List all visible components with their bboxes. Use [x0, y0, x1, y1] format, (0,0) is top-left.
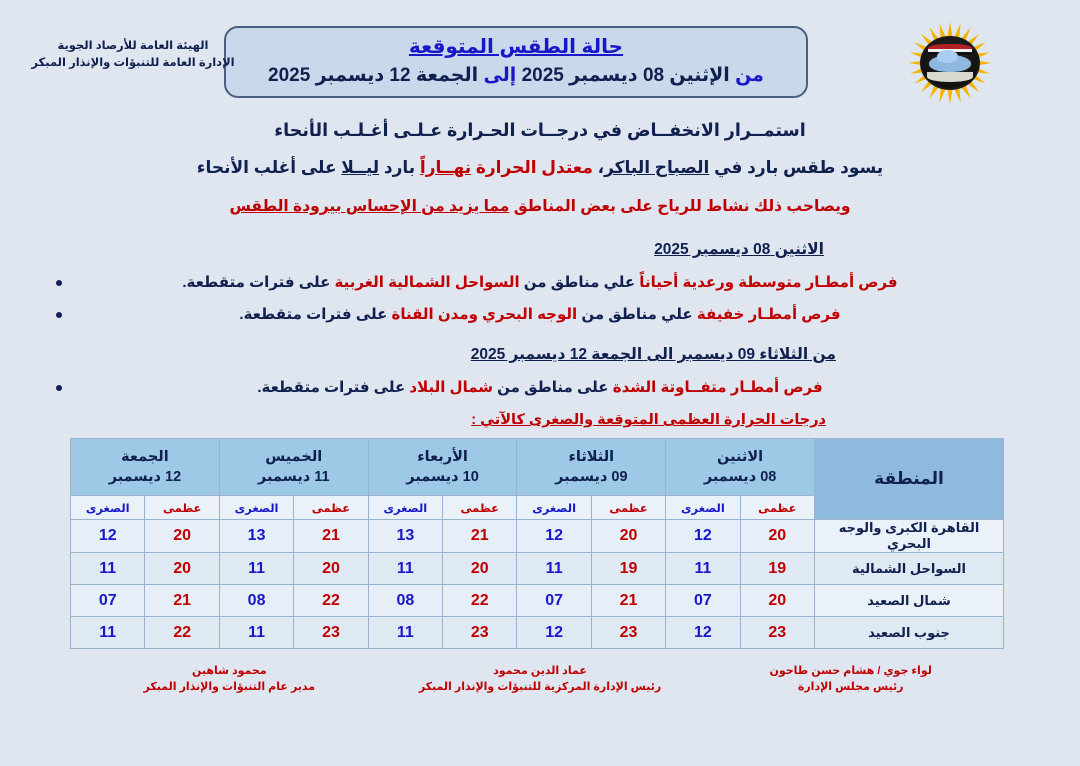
table-row: القاهرة الكبرى والوجه البحري 20 12 20 12…: [71, 520, 1004, 553]
document-footer: لواء جوي / هشام حسن طاحون رئيس مجلس الإد…: [74, 663, 1006, 695]
temperature-table-wrapper: المنطقة الاثنين 08 ديسمبر الثلاثاء 09 دي…: [70, 438, 1004, 649]
signatory-title: رئيس مجلس الإدارة: [695, 679, 1006, 695]
bullet-dot-icon: [56, 385, 62, 391]
subheader-max-3: عظمى: [294, 496, 368, 520]
cell-min: 11: [517, 553, 591, 585]
cell-max: 22: [443, 585, 517, 617]
day-date: 08 ديسمبر: [666, 467, 814, 487]
summary3-part1: ويصاحب ذلك نشاط للرياح على بعض المناطق: [509, 198, 850, 215]
cell-max: 23: [294, 617, 368, 649]
cell-max: 20: [294, 553, 368, 585]
water-band: [927, 72, 973, 82]
subheader-min-3: الصغرى: [219, 496, 293, 520]
bullet-red-region: شمال البلاد: [409, 379, 493, 396]
list-item: فرص أمطـار خفيفة علي مناطق من الوجه البح…: [36, 305, 1044, 323]
organization-name: الهيئة العامة للأرصاد الجوية الإدارة الع…: [8, 38, 258, 72]
cell-max: 20: [740, 585, 814, 617]
page-title: حالة الطقس المتوقعة: [226, 32, 806, 62]
bullet-dark-mid: علي مناطق من: [577, 306, 693, 323]
cell-min: 12: [666, 520, 740, 553]
list-item: فرص أمطـار متفــاوتة الشدة على مناطق من …: [36, 378, 1044, 396]
bullet-red-lead: فرص أمطـار متفــاوتة الشدة: [609, 379, 823, 396]
table-head: المنطقة الاثنين 08 ديسمبر الثلاثاء 09 دي…: [71, 439, 1004, 520]
cell-max: 19: [591, 553, 665, 585]
cell-max: 23: [591, 617, 665, 649]
cell-max: 21: [145, 585, 219, 617]
column-header-day-2: الأربعاء 10 ديسمبر: [368, 439, 517, 496]
subheader-max-4: عظمى: [145, 496, 219, 520]
temperature-table: المنطقة الاثنين 08 ديسمبر الثلاثاء 09 دي…: [70, 438, 1004, 649]
column-header-day-0: الاثنين 08 ديسمبر: [666, 439, 815, 496]
cell-max: 20: [591, 520, 665, 553]
cell-max: 20: [740, 520, 814, 553]
column-header-day-3: الخميس 11 ديسمبر: [219, 439, 368, 496]
signatory-name: لواء جوي / هشام حسن طاحون: [695, 663, 1006, 679]
forecast-document: حالة الطقس المتوقعة من الإثنين 08 ديسمبر…: [0, 0, 1080, 766]
summary2-part3: بارد: [379, 158, 420, 177]
list-item: فرص أمطـار متوسطة ورعدية أحياناً علي منا…: [36, 273, 1044, 291]
cell-region: جنوب الصعيد: [815, 617, 1004, 649]
day-date: 10 ديسمبر: [369, 467, 517, 487]
cell-max: 21: [443, 520, 517, 553]
cell-min: 13: [368, 520, 442, 553]
temperature-note: درجات الحرارة العظمى المتوقعة والصغرى كا…: [36, 412, 1044, 428]
subheader-max-1: عظمى: [591, 496, 665, 520]
date-range-subtitle: من الإثنين 08 ديسمبر 2025 إلى الجمعة 12 …: [226, 62, 806, 90]
cell-min: 13: [219, 520, 293, 553]
subtitle-to: إلى: [483, 65, 516, 86]
cell-region: شمال الصعيد: [815, 585, 1004, 617]
cell-max: 20: [443, 553, 517, 585]
day-name: الاثنين: [666, 447, 814, 467]
bullet-red-region: السواحل الشمالية الغربية: [334, 274, 519, 291]
summary2-underline-morning: الصباح الباكر: [604, 158, 709, 177]
signatory-forecast-manager: محمود شاهين مدير عام التنبؤات والإنذار ا…: [74, 663, 385, 695]
cell-min: 12: [666, 617, 740, 649]
signatory-central-head: عماد الدين محمود رئيس الإدارة المركزية ل…: [385, 663, 696, 695]
bullet-dot-icon: [56, 280, 62, 286]
egyptian-meteorological-authority-logo: [898, 18, 1002, 108]
day-date: 11 ديسمبر: [220, 467, 368, 487]
cell-region: السواحل الشمالية: [815, 553, 1004, 585]
bullet-dark-tail: على فترات متقطعة.: [182, 274, 334, 291]
cell-min: 11: [71, 553, 145, 585]
cell-min: 07: [666, 585, 740, 617]
subtitle-from: من: [735, 65, 764, 86]
subheader-min-0: الصغرى: [666, 496, 740, 520]
signatory-chairman: لواء جوي / هشام حسن طاحون رئيس مجلس الإد…: [695, 663, 1006, 695]
title-box: حالة الطقس المتوقعة من الإثنين 08 ديسمبر…: [224, 26, 808, 98]
bullet-red-lead: فرص أمطـار متوسطة ورعدية أحياناً: [635, 274, 897, 291]
day-name: الأربعاء: [369, 447, 517, 467]
summary2-red-daytime: نهــاراً: [420, 158, 471, 177]
day-date: 12 ديسمبر: [71, 467, 219, 487]
summary2-part1: يسود طقس بارد في: [709, 158, 883, 177]
bullet-red-lead: فرص أمطـار خفيفة: [693, 306, 841, 323]
subheader-min-1: الصغرى: [517, 496, 591, 520]
day-section-bullets-2: فرص أمطـار متفــاوتة الشدة على مناطق من …: [36, 378, 1044, 396]
subtitle-end-date: الجمعة 12 ديسمبر 2025: [268, 65, 483, 86]
signatory-title: مدير عام التنبؤات والإنذار المبكر: [74, 679, 385, 695]
cell-min: 11: [219, 617, 293, 649]
cell-max: 23: [740, 617, 814, 649]
summary2-part2: ،: [593, 158, 604, 177]
cell-max: 20: [145, 553, 219, 585]
table-row: شمال الصعيد 20 07 21 07 22 08 22 08 21 0…: [71, 585, 1004, 617]
column-header-region: المنطقة: [815, 439, 1004, 520]
subheader-max-0: عظمى: [740, 496, 814, 520]
cell-max: 22: [294, 585, 368, 617]
cell-max: 22: [145, 617, 219, 649]
day-date: 09 ديسمبر: [517, 467, 665, 487]
column-header-day-4: الجمعة 12 ديسمبر: [71, 439, 220, 496]
table-row: جنوب الصعيد 23 12 23 12 23 11 23 11 22 1…: [71, 617, 1004, 649]
day-name: الجمعة: [71, 447, 219, 467]
document-body: استمــرار الانخفــاض في درجــات الحـرارة…: [0, 120, 1080, 428]
day-section-heading-1: الاثنين 08 ديسمبر 2025: [36, 240, 1044, 259]
summary2-underline-night: ليــلا: [341, 158, 379, 177]
bullet-red-region: الوجه البحري ومدن القناة: [392, 306, 578, 323]
signatory-title: رئيس الإدارة المركزية للتنبؤات والإنذار …: [385, 679, 696, 695]
subtitle-start-date: الإثنين 08 ديسمبر 2025: [516, 65, 735, 86]
day-name: الخميس: [220, 447, 368, 467]
bullet-dark-tail: على فترات متقطعة.: [239, 306, 391, 323]
bullet-dark-mid: علي مناطق من: [520, 274, 636, 291]
org-line-1: الهيئة العامة للأرصاد الجوية: [8, 38, 258, 55]
summary-line-2: يسود طقس بارد في الصباح الباكر، معتدل ال…: [36, 158, 1044, 178]
cell-max: 19: [740, 553, 814, 585]
day-section-heading-2: من الثلاثاء 09 ديسمبر الى الجمعة 12 ديسم…: [36, 345, 1044, 364]
subheader-min-2: الصغرى: [368, 496, 442, 520]
day-name: الثلاثاء: [517, 447, 665, 467]
bullet-dot-icon: [56, 312, 62, 318]
summary2-red-moderate: معتدل الحرارة: [471, 158, 593, 177]
cell-min: 11: [368, 617, 442, 649]
signatory-name: محمود شاهين: [74, 663, 385, 679]
subheader-max-2: عظمى: [443, 496, 517, 520]
emblem-disc: [920, 36, 980, 90]
summary3-underline: مما يزيد من الإحساس بيرودة الطقس: [229, 198, 509, 215]
cell-min: 12: [517, 520, 591, 553]
summary2-part4: على أغلب الأنحاء: [197, 158, 342, 177]
cell-min: 08: [368, 585, 442, 617]
cell-min: 12: [71, 520, 145, 553]
cell-max: 21: [294, 520, 368, 553]
cell-min: 12: [517, 617, 591, 649]
subheader-min-4: الصغرى: [71, 496, 145, 520]
cell-min: 07: [517, 585, 591, 617]
cell-min: 08: [219, 585, 293, 617]
signatory-name: عماد الدين محمود: [385, 663, 696, 679]
cell-region: القاهرة الكبرى والوجه البحري: [815, 520, 1004, 553]
bullet-dark-mid: على مناطق من: [493, 379, 609, 396]
table-body: القاهرة الكبرى والوجه البحري 20 12 20 12…: [71, 520, 1004, 649]
org-line-2: الإدارة العامة للتنبؤات والإنذار المبكر: [8, 55, 258, 72]
bullet-dark-tail: على فترات متقطعة.: [257, 379, 409, 396]
table-header-row-days: المنطقة الاثنين 08 ديسمبر الثلاثاء 09 دي…: [71, 439, 1004, 496]
cell-min: 07: [71, 585, 145, 617]
table-row: السواحل الشمالية 19 11 19 11 20 11 20 11…: [71, 553, 1004, 585]
summary-line-1: استمــرار الانخفــاض في درجــات الحـرارة…: [36, 120, 1044, 141]
column-header-day-1: الثلاثاء 09 ديسمبر: [517, 439, 666, 496]
cell-max: 20: [145, 520, 219, 553]
summary-line-3: ويصاحب ذلك نشاط للرياح على بعض المناطق م…: [36, 197, 1044, 216]
cloud-icon: [929, 55, 971, 72]
day-section-bullets-1: فرص أمطـار متوسطة ورعدية أحياناً علي منا…: [36, 273, 1044, 323]
cell-max: 23: [443, 617, 517, 649]
cell-min: 11: [71, 617, 145, 649]
cell-min: 11: [219, 553, 293, 585]
cell-max: 21: [591, 585, 665, 617]
cell-min: 11: [666, 553, 740, 585]
document-header: حالة الطقس المتوقعة من الإثنين 08 ديسمبر…: [0, 0, 1080, 112]
cell-min: 11: [368, 553, 442, 585]
